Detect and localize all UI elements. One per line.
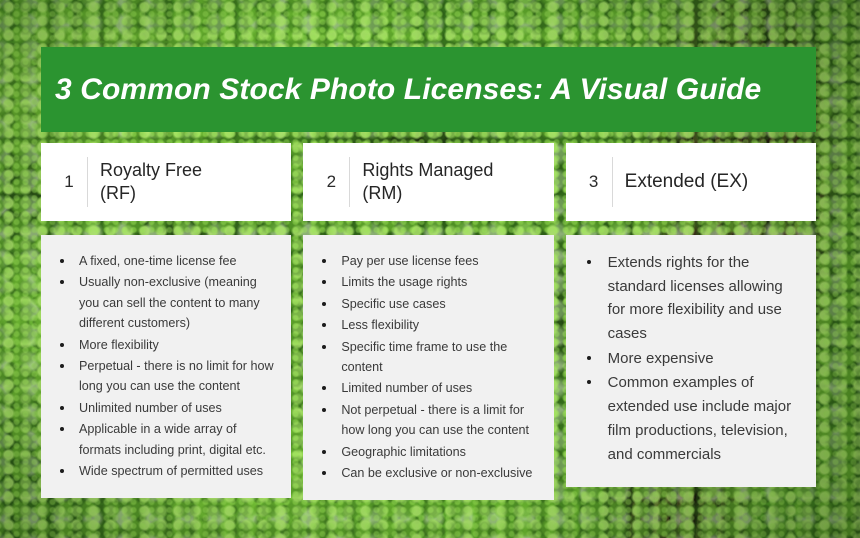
list-item: Can be exclusive or non-exclusive — [313, 463, 541, 483]
page-title: 3 Common Stock Photo Licenses: A Visual … — [41, 73, 761, 107]
license-bullet-list: Extends rights for the standard licenses… — [576, 251, 804, 466]
license-title-line-2: (RF) — [100, 182, 202, 205]
license-card-header: 3 Extended (EX) — [566, 143, 816, 221]
license-number: 1 — [55, 172, 83, 192]
list-item: Common examples of extended use include … — [576, 371, 804, 466]
list-item: Geographic limitations — [313, 442, 541, 462]
list-item: Less flexibility — [313, 315, 541, 335]
list-item: Specific use cases — [313, 294, 541, 314]
list-item: More expensive — [576, 347, 804, 371]
license-title-line-1: Extended (EX) — [625, 170, 749, 194]
license-card-body: A fixed, one-time license fee Usually no… — [41, 235, 291, 498]
list-item: Extends rights for the standard licenses… — [576, 251, 804, 346]
list-item: Limited number of uses — [313, 378, 541, 398]
license-card-body: Extends rights for the standard licenses… — [566, 235, 816, 487]
list-item: Specific time frame to use the content — [313, 337, 541, 378]
license-card-header: 1 Royalty Free (RF) — [41, 143, 291, 221]
vertical-divider — [612, 157, 613, 207]
list-item: Applicable in a wide array of formats in… — [51, 419, 279, 460]
list-item: A fixed, one-time license fee — [51, 251, 279, 271]
list-item: Wide spectrum of permitted uses — [51, 461, 279, 481]
license-columns: 1 Royalty Free (RF) A fixed, one-time li… — [41, 143, 816, 500]
license-card-header: 2 Rights Managed (RM) — [303, 143, 553, 221]
license-card-rights-managed: 2 Rights Managed (RM) Pay per use licens… — [303, 143, 553, 500]
license-card-body: Pay per use license fees Limits the usag… — [303, 235, 553, 500]
license-number: 3 — [580, 172, 608, 192]
license-bullet-list: A fixed, one-time license fee Usually no… — [51, 251, 279, 481]
list-item: More flexibility — [51, 335, 279, 355]
license-card-royalty-free: 1 Royalty Free (RF) A fixed, one-time li… — [41, 143, 291, 498]
title-banner: 3 Common Stock Photo Licenses: A Visual … — [41, 47, 816, 132]
license-title-line-1: Royalty Free — [100, 159, 202, 182]
list-item: Limits the usage rights — [313, 272, 541, 292]
license-title: Rights Managed (RM) — [362, 159, 493, 204]
license-number: 2 — [317, 172, 345, 192]
license-title-line-2: (RM) — [362, 182, 493, 205]
license-card-extended: 3 Extended (EX) Extends rights for the s… — [566, 143, 816, 487]
list-item: Unlimited number of uses — [51, 398, 279, 418]
list-item: Usually non-exclusive (meaning you can s… — [51, 272, 279, 333]
slide-canvas: 3 Common Stock Photo Licenses: A Visual … — [0, 0, 860, 538]
license-title-line-1: Rights Managed — [362, 159, 493, 182]
list-item: Perpetual - there is no limit for how lo… — [51, 356, 279, 397]
license-title: Royalty Free (RF) — [100, 159, 202, 204]
license-bullet-list: Pay per use license fees Limits the usag… — [313, 251, 541, 483]
vertical-divider — [87, 157, 88, 207]
list-item: Not perpetual - there is a limit for how… — [313, 400, 541, 441]
list-item: Pay per use license fees — [313, 251, 541, 271]
vertical-divider — [349, 157, 350, 207]
license-title: Extended (EX) — [625, 170, 749, 194]
